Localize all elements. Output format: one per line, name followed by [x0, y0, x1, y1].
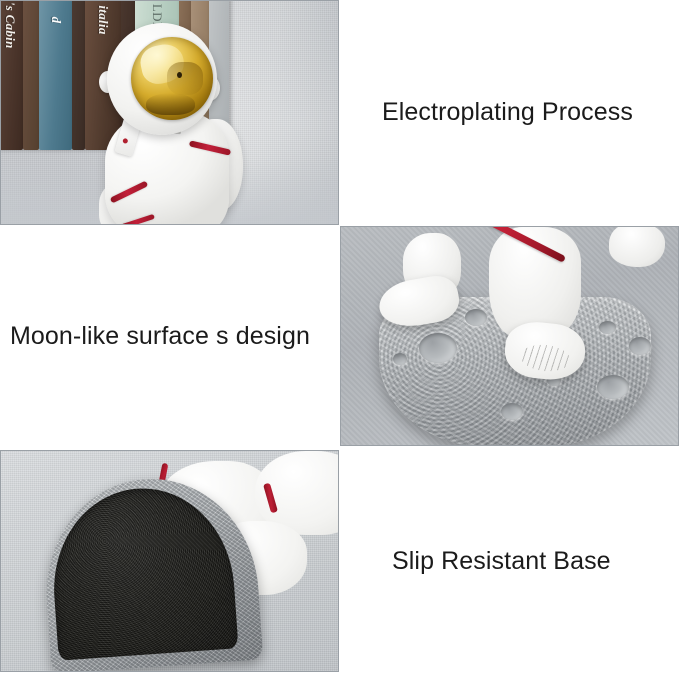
book-spine [23, 0, 39, 150]
stand-underside [39, 472, 264, 672]
feature-text: Electroplating Process [382, 98, 633, 127]
visor-reflection [146, 93, 195, 115]
astronaut-helmet [107, 23, 217, 135]
visor-reflection [167, 62, 203, 95]
crater [629, 337, 651, 355]
crater [465, 309, 487, 326]
feature-label-moon-surface: Moon-like surface s design [0, 226, 339, 446]
visor-speck [177, 72, 182, 78]
book-spine-title: d [48, 17, 64, 24]
astronaut-hand [609, 226, 665, 267]
feature-collage: m's Cabin d italia LDIN [0, 0, 679, 679]
photo-moon-base [340, 226, 679, 446]
book-spine: d [39, 0, 72, 150]
feature-label-slip-resistant: Slip Resistant Base [340, 450, 679, 672]
book-spine [72, 0, 85, 150]
crater [599, 321, 616, 334]
feature-text: Slip Resistant Base [392, 547, 611, 576]
book-spine: m's Cabin [0, 0, 23, 150]
crater [501, 403, 523, 420]
feature-label-electroplating: Electroplating Process [340, 0, 679, 225]
gold-visor [131, 37, 213, 120]
crater [393, 353, 407, 365]
crater [597, 375, 629, 399]
photo-astronaut-bust: m's Cabin d italia LDIN [0, 0, 339, 225]
feature-text: Moon-like surface s design [10, 322, 310, 351]
crater [419, 333, 457, 363]
book-spine-title: m's Cabin [2, 0, 18, 49]
astronaut-figurine [93, 23, 273, 225]
photo-slip-resistant-base [0, 450, 339, 672]
